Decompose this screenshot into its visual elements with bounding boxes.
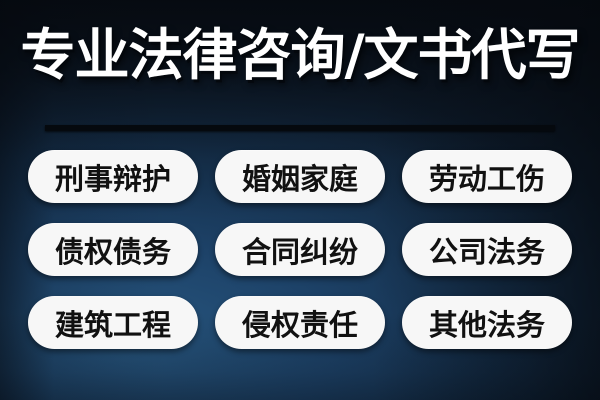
service-pill-label: 其他法务 [429,302,545,344]
service-pill-label: 债权债务 [55,229,171,271]
service-pill-label: 建筑工程 [55,302,171,344]
service-row: 债权债务 合同纠纷 公司法务 [28,223,572,276]
banner-content: 专业法律咨询/文书代写 刑事辩护 婚姻家庭 劳动工伤 债权债务 合同 [0,0,600,400]
service-pill-label: 婚姻家庭 [242,156,358,198]
service-row: 刑事辩护 婚姻家庭 劳动工伤 [28,150,572,203]
service-pill-label: 刑事辩护 [55,156,171,198]
service-pill-tort-liability[interactable]: 侵权责任 [215,296,385,349]
service-pill-label: 劳动工伤 [429,156,545,198]
service-pill-label: 合同纠纷 [242,229,358,271]
service-pill-contract-dispute[interactable]: 合同纠纷 [215,223,385,276]
page-title: 专业法律咨询/文书代写 [0,28,600,83]
service-pill-construction-engineering[interactable]: 建筑工程 [28,296,198,349]
service-pill-label: 公司法务 [429,229,545,271]
service-pill-label: 侵权责任 [242,302,358,344]
service-pill-other-legal[interactable]: 其他法务 [402,296,572,349]
title-divider [45,125,555,131]
service-pill-marriage-family[interactable]: 婚姻家庭 [215,150,385,203]
service-pill-corporate-legal[interactable]: 公司法务 [402,223,572,276]
service-pill-labor-injury[interactable]: 劳动工伤 [402,150,572,203]
service-row: 建筑工程 侵权责任 其他法务 [28,296,572,349]
service-category-grid: 刑事辩护 婚姻家庭 劳动工伤 债权债务 合同纠纷 公司法务 [28,150,572,349]
service-pill-creditor-debt[interactable]: 债权债务 [28,223,198,276]
service-pill-criminal-defense[interactable]: 刑事辩护 [28,150,198,203]
legal-services-banner: 专业法律咨询/文书代写 刑事辩护 婚姻家庭 劳动工伤 债权债务 合同 [0,0,600,400]
